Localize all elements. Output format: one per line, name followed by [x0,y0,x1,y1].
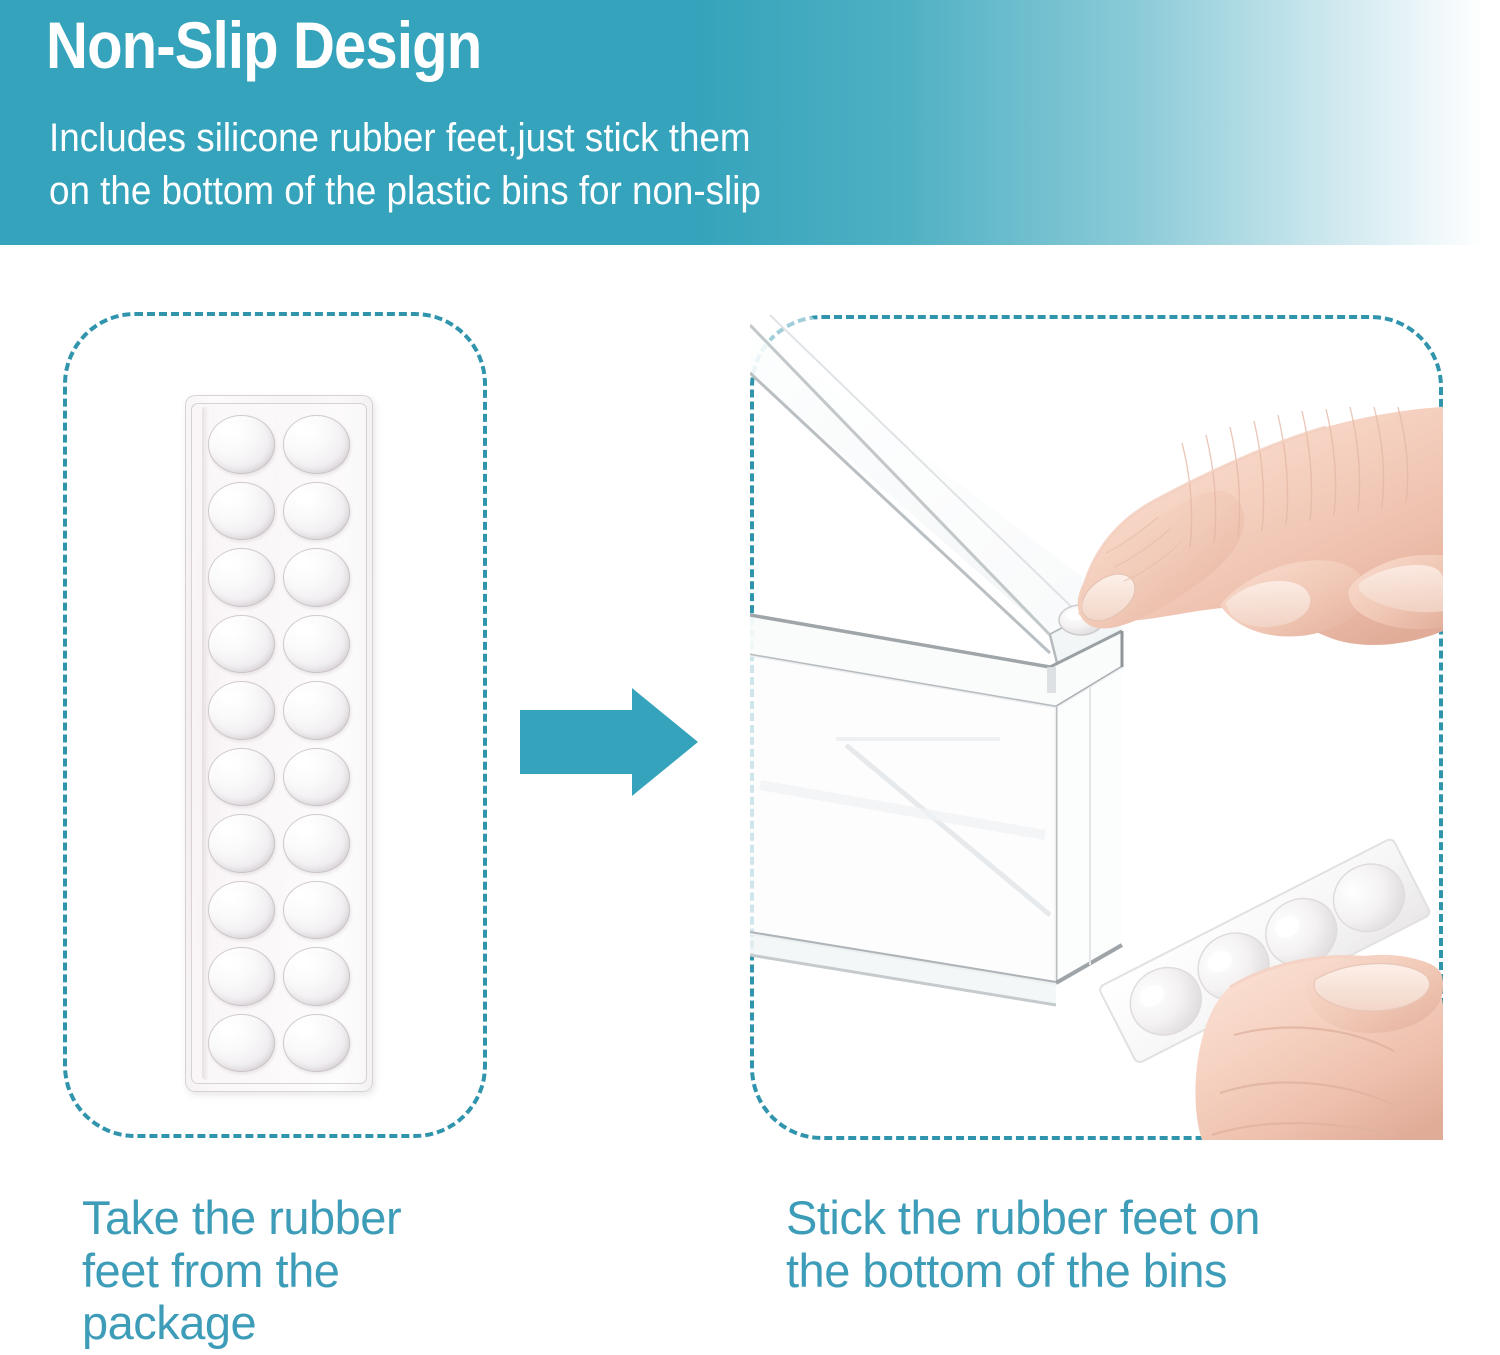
header-banner: Non-Slip Design Includes silicone rubber… [0,0,1500,245]
rubber-foot [283,615,350,674]
arrow-right-shape [520,688,698,796]
right-caption-line-2: the bottom of the bins [786,1245,1446,1298]
bin-application-scene [750,315,1443,1140]
rubber-foot [208,548,275,607]
rubber-foot [208,748,275,807]
page-title: Non-Slip Design [46,12,481,78]
rubber-foot [208,615,275,674]
rubber-foot [208,881,275,940]
right-step-caption: Stick the rubber feet on the bottom of t… [786,1192,1446,1297]
arrow-right-icon [520,688,698,796]
infographic-page: Non-Slip Design Includes silicone rubber… [0,0,1500,1355]
rubber-foot [283,947,350,1006]
rubber-foot [283,1014,350,1073]
rubber-foot [283,548,350,607]
rubber-foot [283,881,350,940]
banner-subtitle-line-1: Includes silicone rubber feet,just stick… [49,112,761,165]
rubber-foot [283,748,350,807]
rubber-feet-grid [199,409,359,1078]
left-caption-line-3: package [82,1297,512,1350]
rubber-foot [208,482,275,541]
rubber-feet-blister-pack [185,395,373,1092]
banner-subtitle: Includes silicone rubber feet,just stick… [49,112,761,218]
left-caption-line-1: Take the rubber [82,1192,512,1245]
rubber-foot [283,814,350,873]
right-caption-line-1: Stick the rubber feet on [786,1192,1446,1245]
top-hand [1078,407,1443,645]
left-step-caption: Take the rubber feet from the package [82,1192,512,1350]
rubber-foot [283,415,350,474]
rubber-foot [283,681,350,740]
rubber-foot [208,1014,275,1073]
banner-subtitle-line-2: on the bottom of the plastic bins for no… [49,165,761,218]
bin-and-hands-illustration [750,315,1443,1140]
rubber-foot [208,947,275,1006]
rubber-foot [208,681,275,740]
rubber-foot [208,415,275,474]
rubber-foot [208,814,275,873]
left-caption-line-2: feet from the [82,1245,512,1298]
rubber-foot [283,482,350,541]
bottom-hand [1098,838,1443,1140]
